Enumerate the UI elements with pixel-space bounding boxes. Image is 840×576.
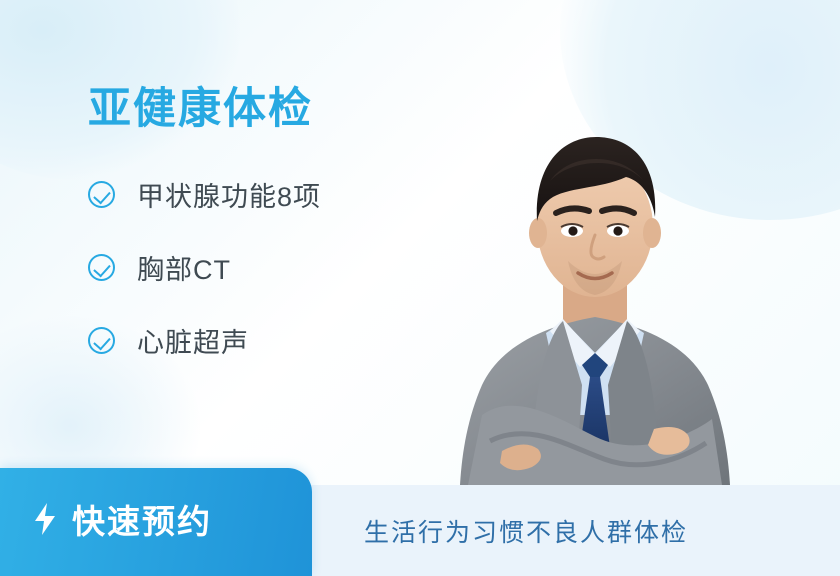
feature-label: 胸部CT	[137, 248, 231, 287]
page-title: 亚健康体检	[88, 86, 321, 133]
bottom-description-label: 生活行为习惯不良人群体检	[364, 513, 688, 549]
lightning-bolt-icon	[32, 502, 58, 536]
person-portrait	[430, 85, 760, 485]
check-circle-icon	[88, 181, 115, 208]
health-checkup-promo-card: 亚健康体检 甲状腺功能8项 胸部CT 心脏超声 生活行为习惯不良人群体检	[0, 0, 840, 576]
list-item: 甲状腺功能8项	[88, 175, 321, 214]
check-circle-icon	[88, 254, 115, 281]
list-item: 胸部CT	[88, 248, 321, 287]
list-item: 心脏超声	[88, 321, 321, 360]
feature-label: 心脏超声	[137, 321, 249, 360]
quick-booking-label: 快速预约	[72, 495, 212, 543]
card-content: 亚健康体检 甲状腺功能8项 胸部CT 心脏超声	[88, 86, 321, 360]
bottom-description: 生活行为习惯不良人群体检	[364, 485, 688, 576]
quick-booking-button[interactable]: 快速预约	[0, 468, 312, 576]
feature-label: 甲状腺功能8项	[137, 175, 321, 214]
check-circle-icon	[88, 327, 115, 354]
quick-booking-button-inner: 快速预约	[0, 495, 212, 549]
feature-list: 甲状腺功能8项 胸部CT 心脏超声	[88, 175, 321, 360]
